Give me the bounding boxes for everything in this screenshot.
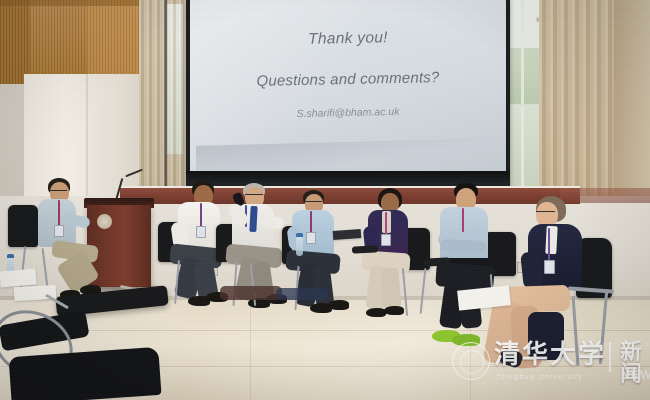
bottle-cap	[7, 254, 14, 258]
slide-content: Thank you! Questions and comments? S.sha…	[190, 0, 506, 170]
glasses	[536, 211, 555, 215]
shoe	[366, 308, 386, 317]
tablet-arm	[352, 245, 378, 253]
lanyard	[310, 211, 312, 233]
wood-trim	[0, 0, 140, 6]
floor-bag	[276, 288, 328, 300]
glasses	[50, 190, 67, 194]
left-curtain	[139, 0, 185, 196]
wood-acoustic-panel	[30, 0, 87, 76]
tsinghua-emblem-icon	[97, 214, 112, 229]
shoe	[384, 306, 404, 315]
floor-bag	[220, 286, 282, 300]
arm	[520, 251, 544, 289]
name-badge	[306, 232, 316, 244]
water-bottle	[296, 237, 303, 256]
chair-back	[8, 205, 38, 247]
name-badge	[196, 226, 206, 238]
tablet-arm	[424, 257, 450, 266]
slide-line-email: S.sharifi@bham.ac.uk	[190, 104, 506, 123]
photo-canvas: Thank you! Questions and comments? S.sha…	[0, 0, 650, 400]
slide-line-thankyou: Thank you!	[190, 27, 506, 52]
necktie	[249, 206, 257, 232]
crossed-arm	[440, 239, 487, 253]
lanyard	[548, 228, 550, 262]
right-curtain-fold	[614, 0, 650, 196]
window-mullion	[521, 0, 524, 190]
lanyard	[58, 200, 60, 226]
lanyard	[462, 208, 464, 234]
shoulder-bag	[9, 347, 162, 400]
name-badge	[544, 260, 555, 274]
lanyard	[385, 212, 387, 236]
bottle-cap	[296, 233, 303, 237]
pillar-edge	[86, 74, 88, 196]
glasses	[245, 194, 263, 198]
shoe	[328, 300, 349, 310]
handout-paper	[0, 268, 37, 287]
sneaker	[452, 334, 480, 346]
name-badge	[381, 234, 391, 246]
lanyard	[200, 203, 202, 227]
leg	[380, 267, 402, 310]
glasses	[305, 201, 322, 205]
wood-acoustic-panel	[87, 0, 139, 74]
name-badge	[54, 225, 64, 237]
wood-dado-band	[560, 188, 650, 203]
folder	[333, 229, 362, 240]
wood-acoustic-panel	[0, 0, 30, 84]
skirt	[528, 312, 564, 360]
slide-line-questions: Questions and comments?	[190, 68, 506, 92]
